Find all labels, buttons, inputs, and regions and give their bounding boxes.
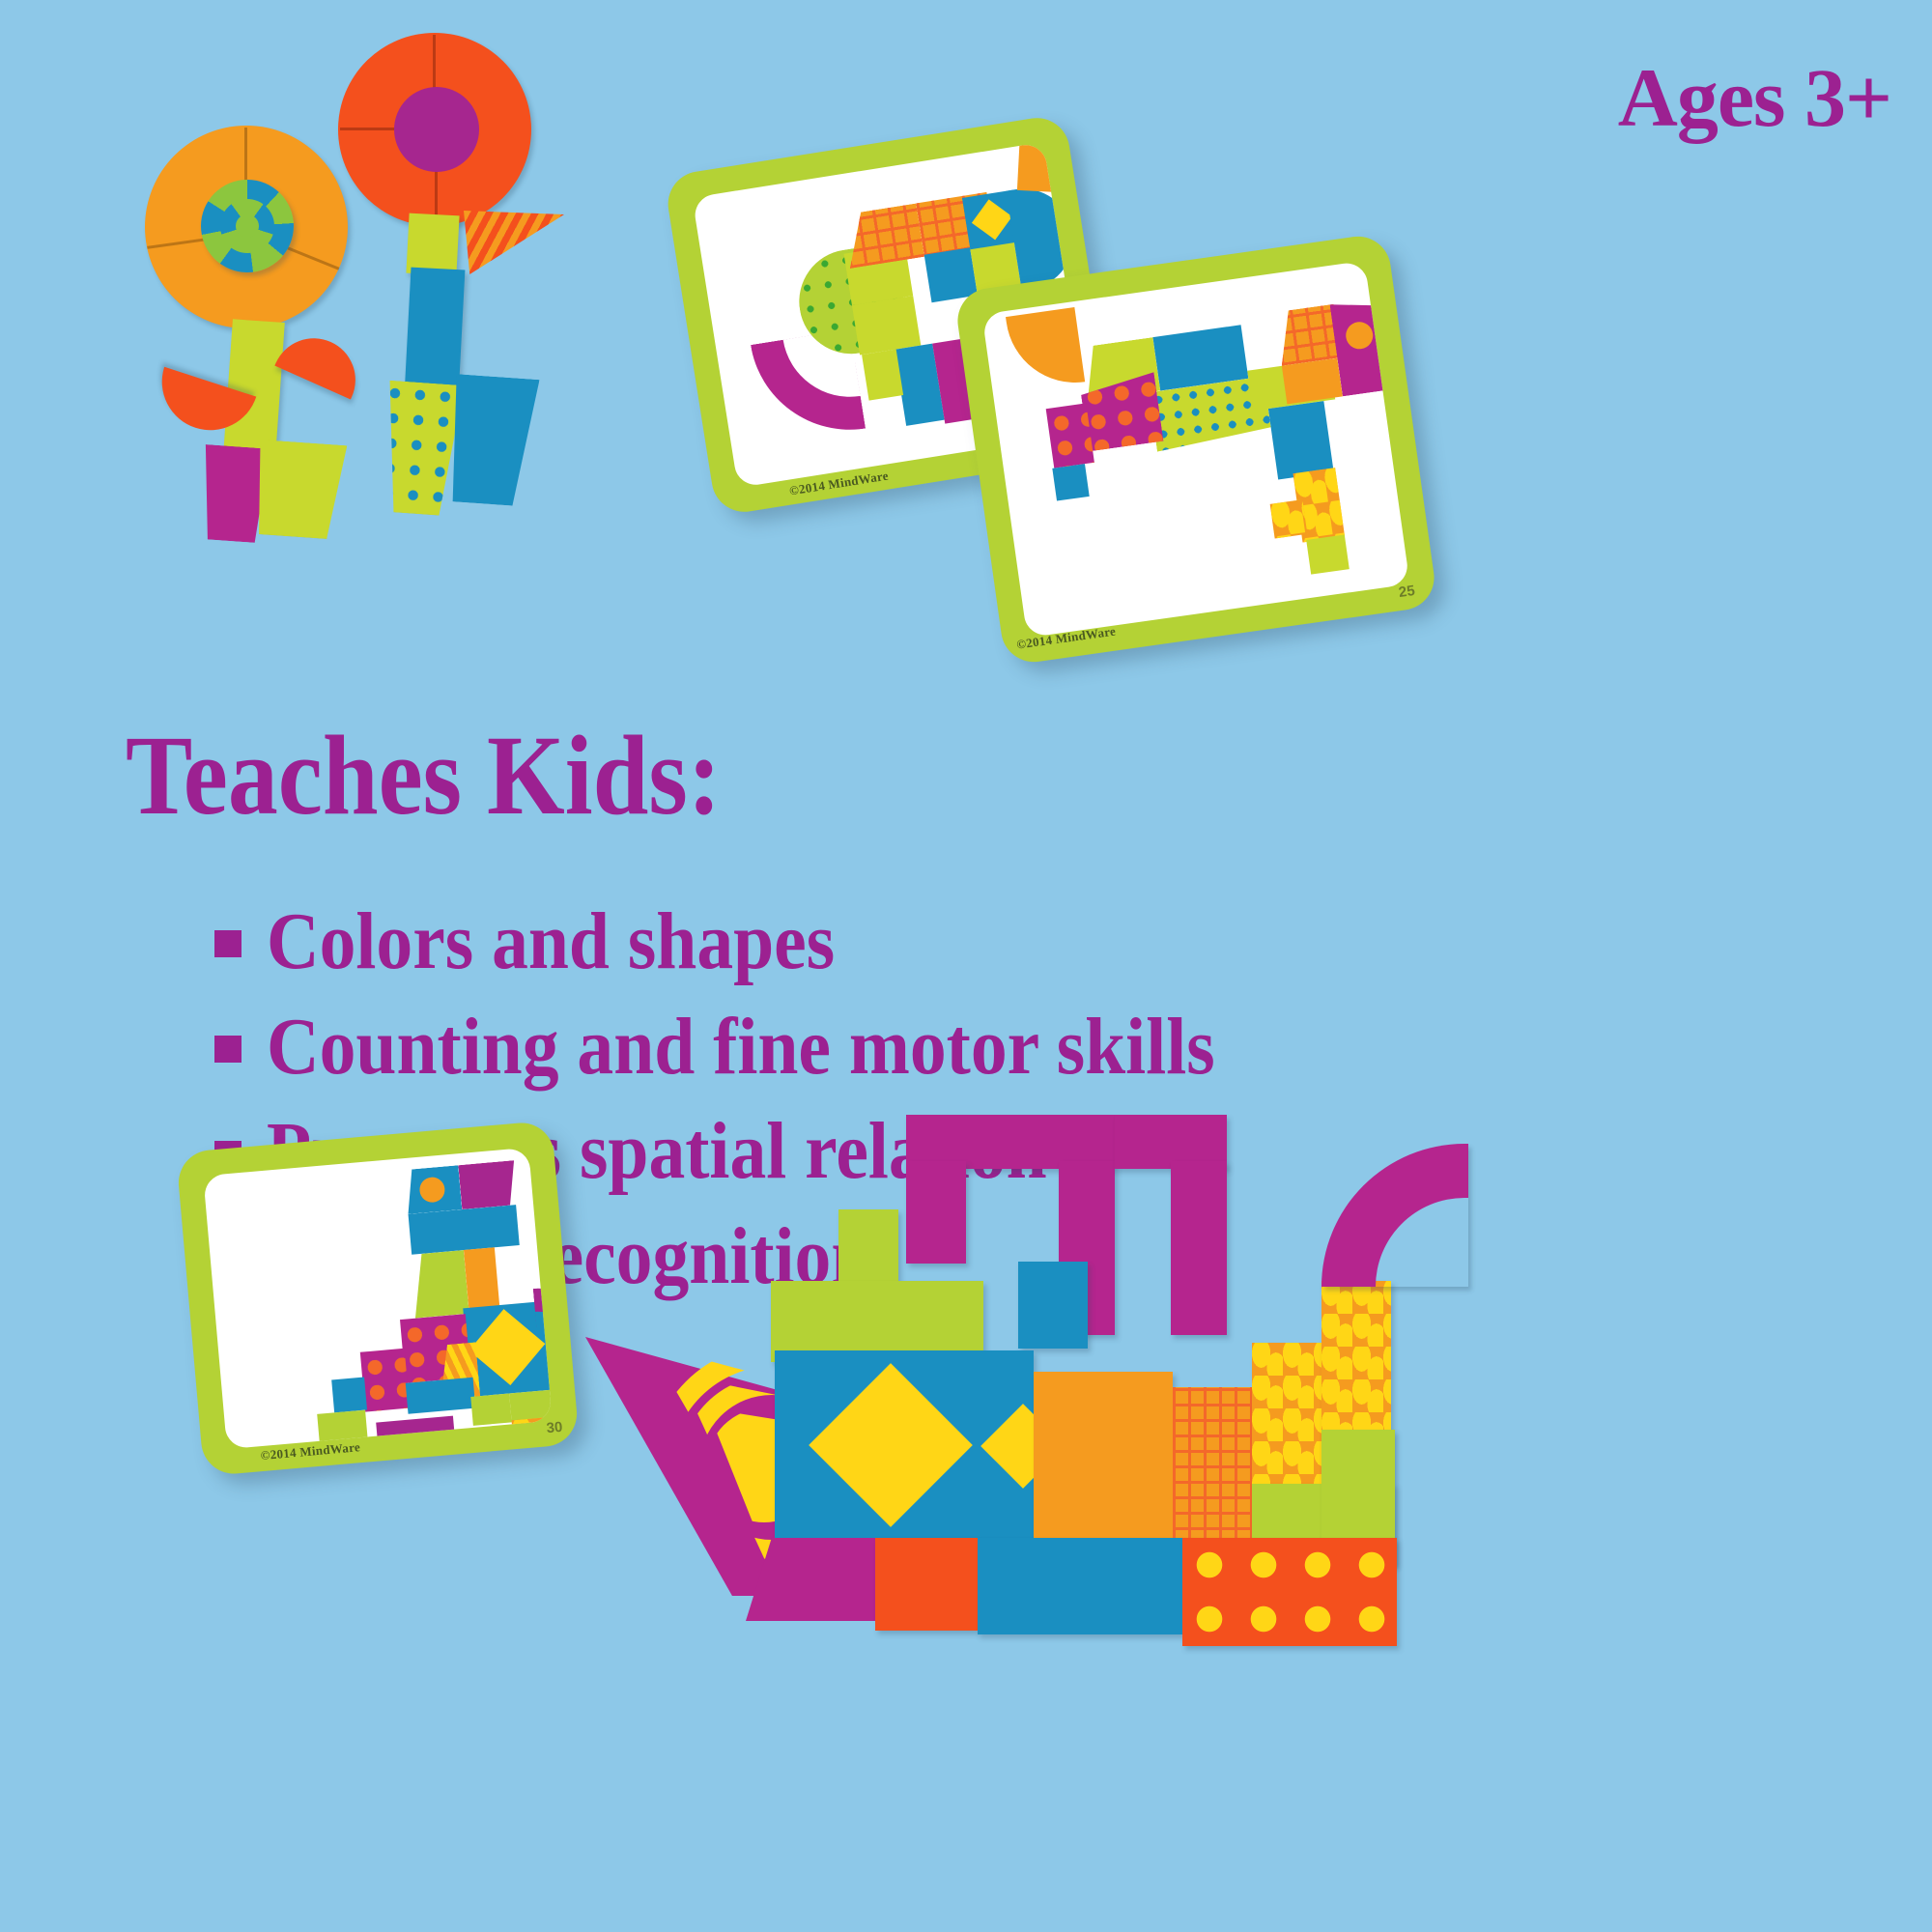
dog-tail-block (1006, 307, 1085, 391)
dino-step-block-lime (470, 1394, 511, 1426)
flower-pot-block-patterned (374, 380, 464, 517)
dino-neck-block-lime (410, 1250, 469, 1319)
boat-deck-block-orange (1034, 1372, 1173, 1542)
boat-bridge-column-blue (1018, 1262, 1088, 1349)
illustration-flower-red-magenta (319, 19, 609, 531)
dino-snout-block-magenta (458, 1160, 518, 1209)
boat-keel-block-orangered (875, 1538, 978, 1631)
activity-card-dinosaur[interactable]: ©2014 MindWare 30 (176, 1121, 580, 1477)
dino-jaw-block-blue (409, 1205, 520, 1255)
dino-step-block-blue (406, 1378, 476, 1414)
dog-paw-block-lime (1306, 534, 1350, 574)
flower-pot-block-magenta (192, 444, 270, 544)
flower-pot-block-blue (448, 374, 540, 507)
boat-bridge-block-magenta (1171, 1161, 1227, 1335)
dino-step-block-lime (317, 1410, 368, 1445)
boat-tower-block-patterned (1252, 1343, 1321, 1484)
square-bullet-icon (214, 930, 241, 957)
card-face (981, 261, 1409, 638)
card-face (203, 1148, 552, 1449)
list-item: Counting and fine motor skills (214, 1004, 1321, 1092)
square-bullet-icon (214, 1036, 241, 1063)
flower-leaf-block-striped (464, 211, 564, 274)
card-number: 30 (546, 1419, 563, 1436)
dog-front-leg-block-blue (1268, 401, 1334, 479)
boat-keel-block-dotted (1182, 1538, 1397, 1646)
list-item: Colors and shapes (214, 898, 1321, 986)
flower-center-spiral-core (236, 214, 259, 238)
dog-rear-foot-block (1052, 464, 1089, 500)
list-item-label: Counting and fine motor skills (267, 1004, 1215, 1092)
card-number: 25 (1398, 582, 1416, 601)
illustration-block-boat (653, 1101, 1861, 1932)
dino-neck-block-orange (464, 1247, 499, 1310)
elephant-foot-block (862, 350, 903, 401)
flower-stem-block-blue (405, 268, 466, 398)
boat-bridge-block-magenta (906, 1161, 966, 1264)
dino-foot-block-patterned (379, 1445, 451, 1449)
dog-haunch-block-patterned (1046, 403, 1094, 468)
dog-snout-block-orange (1282, 358, 1343, 405)
poster-canvas: ©2014 MindWare 26 (0, 0, 1932, 1932)
dog-front-paw-block-patterned (1270, 499, 1308, 538)
elephant-back-block (841, 203, 924, 269)
activity-card-dog[interactable]: ©2014 MindWare 25 (953, 232, 1438, 666)
ages-label: Ages 3+ (1618, 56, 1891, 139)
dino-step-block-blue (331, 1378, 367, 1413)
list-item-label: Colors and shapes (267, 898, 835, 986)
page-title: Teaches Kids: (126, 719, 721, 833)
elephant-tail-block (1017, 144, 1062, 192)
boat-smokestack-curve-magenta (1321, 1144, 1468, 1287)
dino-leg-block-magenta (376, 1416, 456, 1450)
boat-keel-block-blue (978, 1538, 1182, 1634)
flower-center-block-magenta (394, 87, 479, 172)
dino-foot-block-patterned (547, 1441, 553, 1449)
dino-torso-block-patterned (360, 1349, 410, 1412)
flower-stem-block-lime (406, 213, 459, 276)
